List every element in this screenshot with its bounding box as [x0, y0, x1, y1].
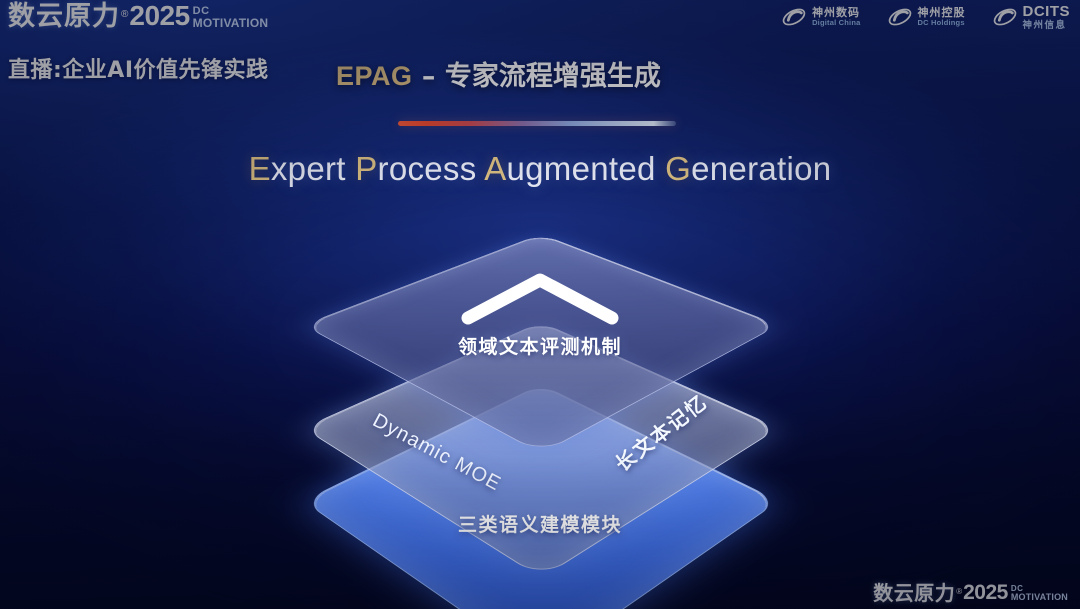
partner-text: 神州控股 DC Holdings	[918, 7, 966, 27]
partner-logo-digital-china: 神州数码 Digital China	[781, 4, 860, 30]
partner-logo-dcits: DCITS 神州信息	[992, 4, 1071, 31]
partner-logo-dc-holdings: 神州控股 DC Holdings	[887, 4, 966, 30]
swirl-logo-icon	[781, 4, 807, 30]
subtitle-part-6: ugmented	[507, 150, 666, 187]
partner-name-en: DC Holdings	[918, 19, 966, 27]
brand-subtitle: DC MOTIVATION	[193, 6, 269, 30]
brand-logo-header: 数云原力 ® 2025 DC MOTIVATION	[8, 2, 268, 30]
brand-logo-watermark: 数云原力 ® 2025 DC MOTIVATION	[873, 582, 1068, 603]
live-stream-label: 直播:企业AI价值先锋实践	[8, 52, 269, 84]
brand-sub-motivation: MOTIVATION	[193, 17, 269, 29]
partner-text: 神州数码 Digital China	[812, 7, 860, 27]
subtitle-part-7: G	[665, 150, 691, 187]
subtitle-part-5: A	[484, 150, 506, 187]
subtitle-part-2: xpert	[271, 150, 355, 187]
partner-name-cn: DCITS	[1023, 4, 1071, 21]
brand-sub-motivation: MOTIVATION	[1011, 593, 1068, 602]
title-dash: –	[413, 61, 445, 92]
brand-name-cn: 数云原力	[8, 3, 120, 30]
title-acronym: EPAG	[336, 61, 413, 91]
partner-name-en: 神州信息	[1023, 21, 1071, 31]
gradient-divider	[398, 121, 676, 126]
page-subtitle: Expert Process Augmented Generation	[0, 150, 1080, 188]
swirl-logo-icon	[992, 4, 1018, 30]
brand-year: 2025	[129, 2, 189, 30]
subtitle-part-1: E	[249, 150, 271, 187]
brand-name-cn: 数云原力	[873, 583, 955, 603]
registered-mark: ®	[956, 588, 962, 596]
subtitle-part-4: rocess	[378, 150, 485, 187]
slide-canvas: 数云原力 ® 2025 DC MOTIVATION 直播:企业AI价值先锋实践 …	[0, 0, 1080, 609]
swirl-logo-icon	[887, 4, 913, 30]
partner-logo-group: 神州数码 Digital China 神州控股 DC Holdings	[781, 4, 1070, 31]
brand-year: 2025	[963, 582, 1008, 603]
layered-architecture-diagram: 领域文本评测机制 Dynamic MOE 长文本记忆 三类语义建模模块	[300, 222, 780, 572]
page-title: EPAG – 专家流程增强生成	[336, 54, 661, 93]
partner-text: DCITS 神州信息	[1023, 4, 1071, 31]
title-cn: 专家流程增强生成	[445, 61, 661, 92]
subtitle-part-3: P	[355, 150, 377, 187]
brand-subtitle: DC MOTIVATION	[1011, 585, 1068, 603]
subtitle-part-8: eneration	[691, 150, 831, 187]
partner-name-en: Digital China	[812, 19, 860, 27]
registered-mark: ®	[121, 10, 128, 20]
